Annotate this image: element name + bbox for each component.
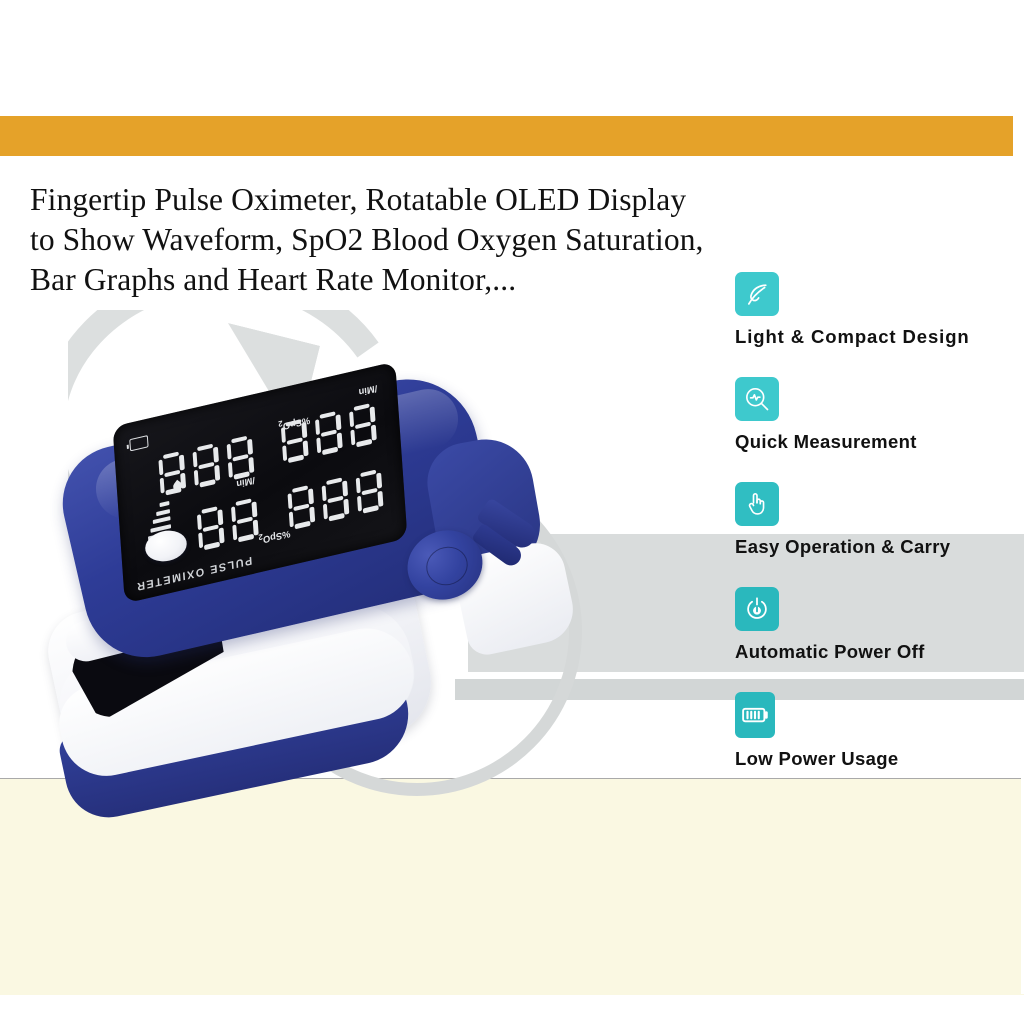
seg-digit (192, 443, 220, 489)
feature-item-automatic-power-off: Automatic Power Off (735, 587, 1024, 663)
feather-icon (735, 272, 779, 316)
pulse-oximeter-device: PULSE OXIMETER %SpO2 (40, 300, 600, 820)
feature-list: Light & Compact Design Quick Measurement (735, 272, 1024, 799)
seg-digit (355, 468, 383, 514)
feature-item-low-power-usage: Low Power Usage (735, 692, 1024, 770)
feature-label: Easy Operation & Carry (735, 536, 1024, 558)
battery-indicator-icon (129, 435, 148, 451)
spo2-unit-sub-2: 2 (278, 418, 283, 428)
display-spo2-digits-secondary (197, 497, 259, 551)
display-pulse-unit-2: /Min (358, 382, 377, 397)
display-spo2-unit-top: %SpO2 (258, 526, 290, 546)
power-icon (735, 587, 779, 631)
seg-digit (158, 450, 186, 496)
feature-label: Automatic Power Off (735, 641, 1024, 663)
feature-label: Light & Compact Design (735, 326, 1024, 348)
headline-line-2: to Show Waveform, SpO2 Blood Oxygen Satu… (30, 220, 850, 260)
seg-digit (197, 505, 225, 551)
seg-digit (231, 497, 259, 543)
battery-icon (735, 692, 775, 738)
headline-line-3: Bar Graphs and Heart Rate Monitor,... (30, 260, 850, 300)
feature-label: Quick Measurement (735, 431, 1024, 453)
feature-item-easy-operation-carry: Easy Operation & Carry (735, 482, 1024, 558)
feature-label: Low Power Usage (735, 748, 1024, 770)
seg-digit (315, 410, 343, 456)
spo2-unit-text: %SpO (263, 527, 291, 544)
display-spo2-digits (287, 468, 383, 530)
page-title: Fingertip Pulse Oximeter, Rotatable OLED… (30, 180, 850, 300)
seg-digit (349, 402, 377, 448)
orange-divider-bar (0, 116, 1013, 156)
pulse-unit-text-2: /Min (358, 382, 377, 397)
feature-item-quick-measurement: Quick Measurement (735, 377, 1024, 453)
hand-tap-icon (735, 482, 779, 526)
magnifier-pulse-icon (735, 377, 779, 421)
headline-line-1: Fingertip Pulse Oximeter, Rotatable OLED… (30, 180, 850, 220)
seg-digit (321, 476, 349, 522)
seg-digit (287, 484, 315, 530)
display-lower-digits (281, 402, 377, 464)
product-marketing-image: Fingertip Pulse Oximeter, Rotatable OLED… (0, 0, 1024, 1024)
feature-item-light-compact-design: Light & Compact Design (735, 272, 1024, 348)
